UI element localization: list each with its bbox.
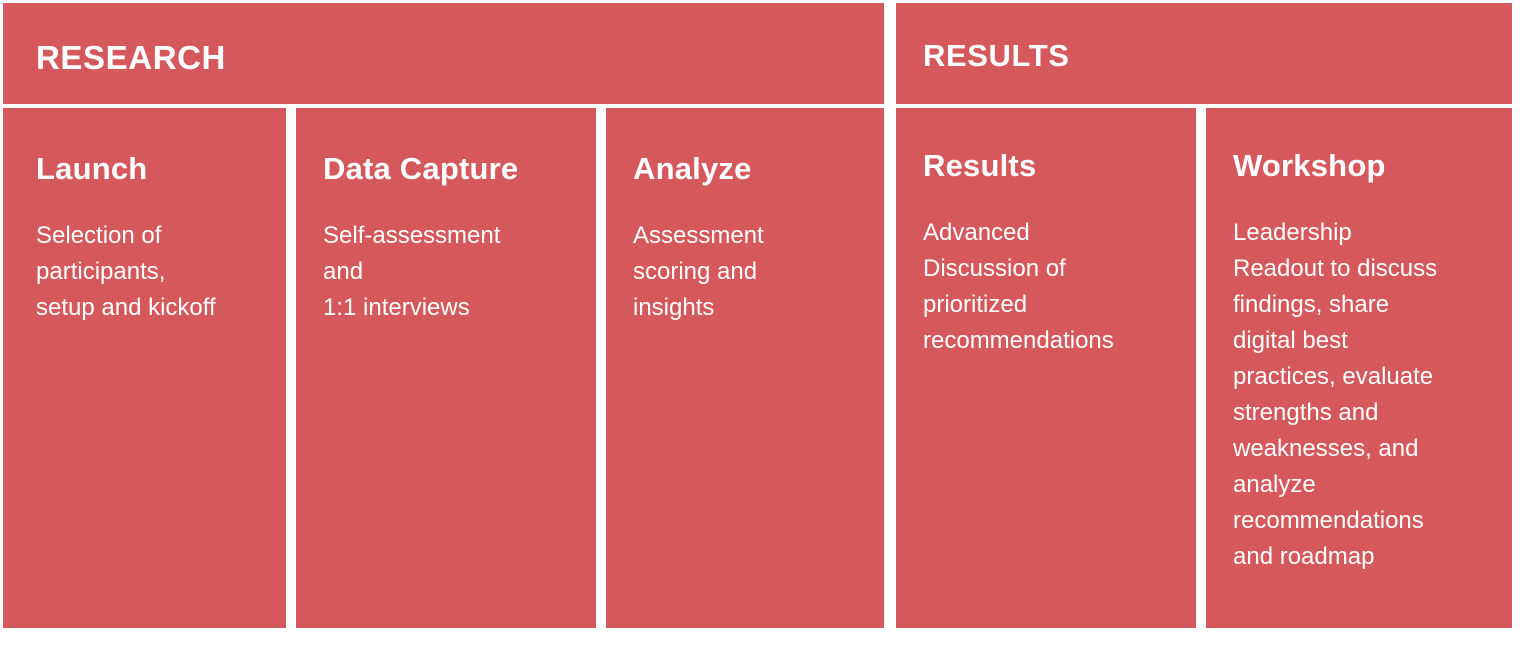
phase-label-results: RESULTS [923,38,1070,74]
step-description-data-capture: Self-assessment and 1:1 interviews [323,218,573,326]
step-column-results[interactable]: Results Advanced Discussion of prioritiz… [896,108,1196,628]
step-title-results: Results [923,148,1036,184]
step-title-launch: Launch [36,151,147,187]
step-column-launch[interactable]: Launch Selection of participants, setup … [3,108,286,628]
step-column-workshop[interactable]: Workshop Leadership Readout to discuss f… [1206,108,1512,628]
step-column-data-capture[interactable]: Data Capture Self-assessment and 1:1 int… [296,108,596,628]
phase-group-results[interactable]: RESULTS [896,3,1512,104]
step-description-results: Advanced Discussion of prioritized recom… [923,215,1178,359]
phase-label-research: RESEARCH [36,39,226,77]
step-description-launch: Selection of participants, setup and kic… [36,218,264,326]
step-title-analyze: Analyze [633,151,752,187]
process-diagram: RESEARCH RESULTS Launch Selection of par… [0,0,1523,656]
step-description-workshop: Leadership Readout to discuss findings, … [1233,215,1493,575]
step-columns-row: Launch Selection of participants, setup … [3,108,1512,628]
phase-group-research[interactable]: RESEARCH [3,3,884,104]
step-description-analyze: Assessment scoring and insights [633,218,863,326]
step-title-data-capture: Data Capture [323,151,518,187]
phase-header-row: RESEARCH RESULTS [3,3,1512,104]
step-title-workshop: Workshop [1233,148,1386,184]
step-column-analyze[interactable]: Analyze Assessment scoring and insights [606,108,884,628]
